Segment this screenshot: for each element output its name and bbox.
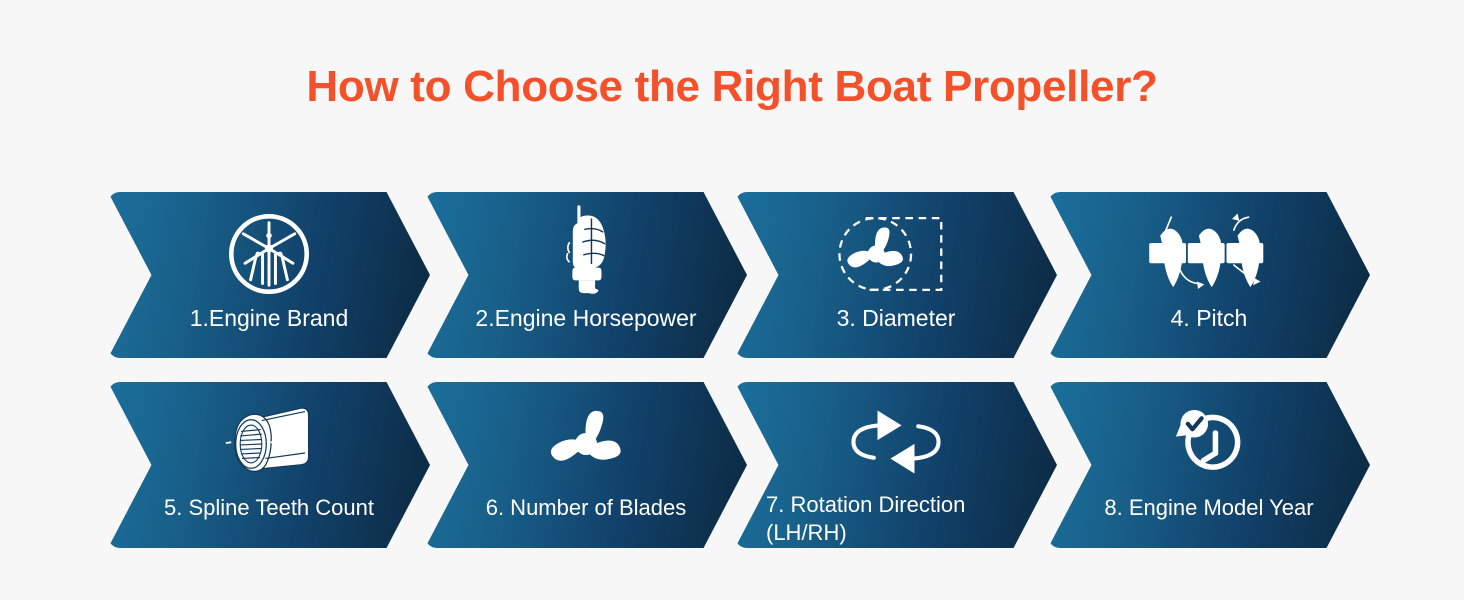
step-card-label: 5. Spline Teeth Count [164, 494, 374, 522]
step-card-number-of-blades[interactable]: 6. Number of Blades [425, 382, 747, 548]
step-card-label: 1.Engine Brand [190, 304, 349, 333]
clock-check-year-icon [1163, 396, 1255, 492]
step-card-label: 8. Engine Model Year [1104, 494, 1313, 522]
step-card-label: 4. Pitch [1171, 304, 1248, 333]
step-card-engine-model-year[interactable]: 8. Engine Model Year [1048, 382, 1370, 548]
engine-brand-tuning-fork-icon [223, 206, 315, 302]
propeller-pitch-blades-icon [1139, 206, 1279, 302]
outboard-motor-icon [542, 206, 630, 302]
step-card-spline-teeth-count[interactable]: 5. Spline Teeth Count [108, 382, 430, 548]
spline-hub-icon [215, 396, 323, 492]
three-blade-propeller-icon [540, 396, 632, 492]
step-card-label: 7. Rotation Direction (LH/RH) [766, 491, 1026, 548]
step-card-label-line1: 7. Rotation Direction [766, 492, 965, 517]
step-card-label-line2: (LH/RH) [766, 520, 847, 545]
step-card-diameter[interactable]: 3. Diameter [735, 192, 1057, 358]
steps-grid: 1.Engine Brand [108, 192, 1370, 572]
page-title: How to Choose the Right Boat Propeller? [0, 62, 1464, 113]
step-card-label: 2.Engine Horsepower [475, 304, 696, 333]
rotation-direction-arrows-icon [840, 396, 952, 489]
step-card-pitch[interactable]: 4. Pitch [1048, 192, 1370, 358]
propeller-diameter-icon [830, 206, 962, 302]
steps-row-2: 5. Spline Teeth Count [108, 382, 1370, 548]
steps-row-1: 1.Engine Brand [108, 192, 1370, 358]
step-card-label: 6. Number of Blades [486, 494, 687, 522]
step-card-engine-horsepower[interactable]: 2.Engine Horsepower [425, 192, 747, 358]
infographic-page: How to Choose the Right Boat Propeller? [0, 0, 1464, 600]
step-card-label: 3. Diameter [837, 304, 956, 333]
step-card-rotation-direction[interactable]: 7. Rotation Direction (LH/RH) [735, 382, 1057, 548]
step-card-engine-brand[interactable]: 1.Engine Brand [108, 192, 430, 358]
